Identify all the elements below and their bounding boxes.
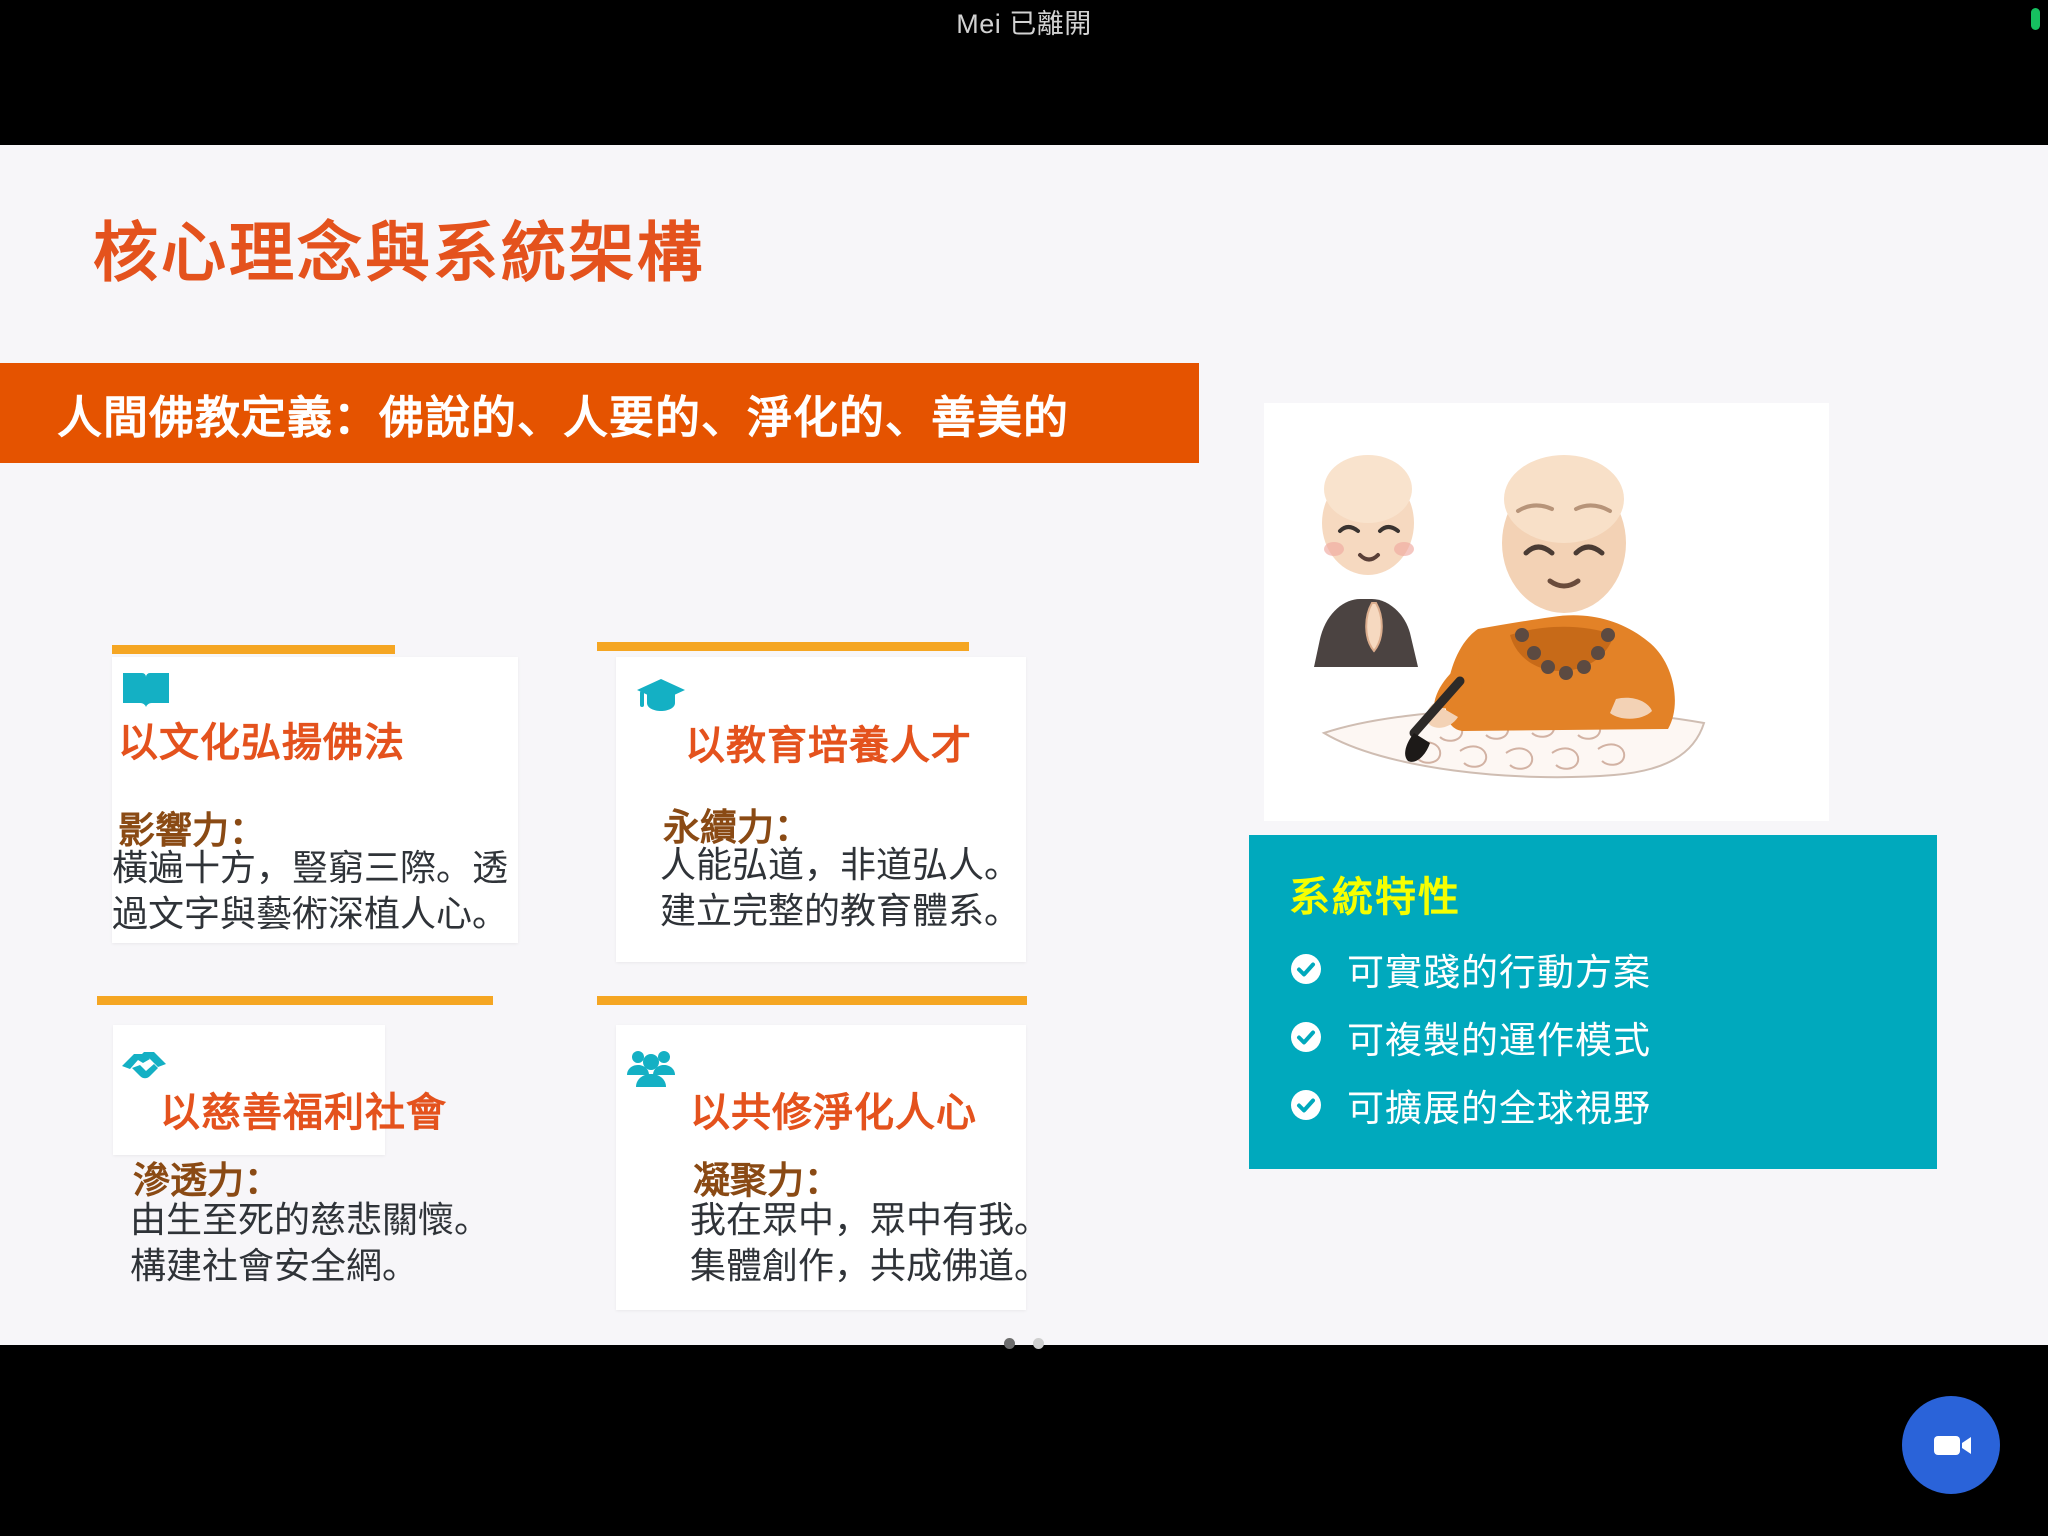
check-circle-icon [1289, 952, 1323, 986]
card-body-text: 由生至死的慈悲關懷。 構建社會安全網。 [130, 1197, 600, 1289]
card-title: 以共修淨化人心 [690, 1080, 977, 1138]
slide-pagination[interactable] [1004, 1338, 1044, 1349]
system-features-panel: 系統特性 可實踐的行動方案 [1249, 835, 1937, 1169]
meeting-top-bar: Mei 已離開 [0, 0, 2048, 42]
list-item: 可實踐的行動方案 [1289, 935, 1909, 1003]
video-camera-button[interactable] [1902, 1396, 2000, 1494]
card-title: 以慈善福利社會 [160, 1080, 447, 1138]
card-rule [597, 996, 1027, 1005]
pagination-dot[interactable] [1004, 1338, 1015, 1349]
feature-list: 可實踐的行動方案 可複製的運作模式 [1289, 935, 1909, 1139]
card-title: 以教育培養人才 [685, 713, 972, 771]
people-group-icon [625, 1045, 677, 1091]
check-circle-icon [1289, 1020, 1323, 1054]
card-metric-label: 凝聚力： [693, 1150, 841, 1204]
presence-notice: Mei 已離開 [956, 2, 1092, 41]
card-title: 以文化弘揚佛法 [118, 710, 405, 768]
page-title: 核心理念與系統架構 [93, 220, 705, 285]
recording-indicator-icon [2031, 8, 2040, 30]
card-rule [597, 642, 969, 651]
pagination-dot-active[interactable] [1033, 1338, 1044, 1349]
card-rule [112, 645, 395, 654]
definition-banner-text: 人間佛教定義：佛說的、人要的、淨化的、善美的 [0, 381, 1069, 446]
card-body-text: 人能弘道，非道弘人。 建立完整的教育體系。 [660, 842, 1110, 934]
feature-item-label: 可擴展的全球視野 [1347, 1078, 1651, 1132]
feature-item-label: 可實踐的行動方案 [1347, 942, 1651, 996]
graduation-cap-icon [635, 672, 687, 718]
check-circle-icon [1289, 1088, 1323, 1122]
card-rule [97, 996, 493, 1005]
feature-item-label: 可複製的運作模式 [1347, 1010, 1651, 1064]
video-camera-icon [1927, 1421, 1975, 1469]
feature-panel-title: 系統特性 [1289, 863, 1461, 923]
card-body-text: 橫遍十方，豎窮三際。透 過文字與藝術深植人心。 [112, 845, 582, 937]
card-metric-label: 滲透力： [133, 1150, 281, 1204]
open-book-icon [120, 667, 172, 713]
list-item: 可複製的運作模式 [1289, 1003, 1909, 1071]
list-item: 可擴展的全球視野 [1289, 1071, 1909, 1139]
presentation-slide: 核心理念與系統架構 人間佛教定義：佛說的、人要的、淨化的、善美的 以文化弘揚佛法… [0, 145, 2048, 1345]
meeting-screen-share: Mei 已離開 核心理念與系統架構 人間佛教定義：佛說的、人要的、淨化的、善美的… [0, 0, 2048, 1536]
definition-banner: 人間佛教定義：佛說的、人要的、淨化的、善美的 [0, 363, 1199, 463]
monk-and-novice-calligraphy-illustration [1264, 403, 1829, 821]
card-body-text: 我在眾中，眾中有我。 集體創作，共成佛道。 [690, 1197, 1140, 1289]
